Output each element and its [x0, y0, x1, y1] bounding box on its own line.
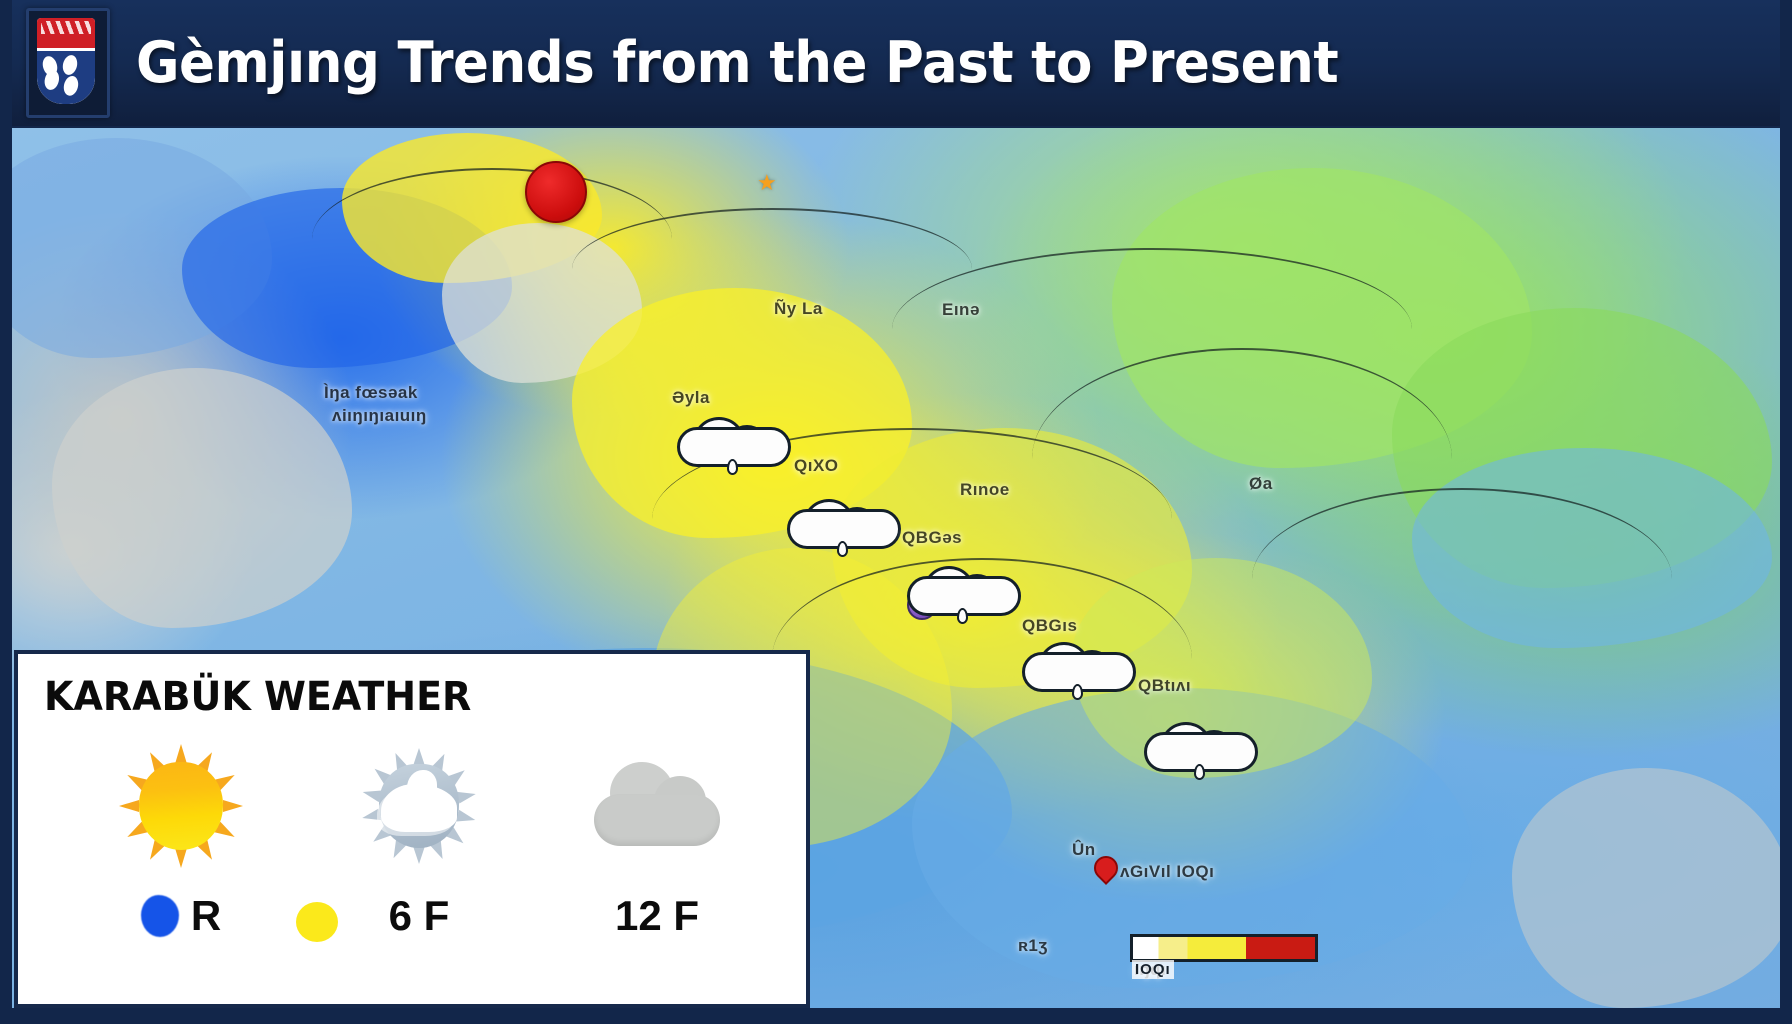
frame-edge-left — [0, 0, 12, 1024]
map-cloud-icon — [1144, 716, 1252, 778]
map-border-stroke — [652, 428, 1172, 610]
map-border-stroke — [892, 248, 1412, 410]
frame-edge-right — [1780, 0, 1792, 1024]
map-texture-blob — [1412, 448, 1772, 648]
map-label: QıXO — [794, 456, 839, 476]
map-cloud-icon — [677, 411, 785, 473]
map-border-stroke — [1032, 348, 1452, 570]
legend-title: KARABÜK WEATHER — [44, 674, 743, 720]
legend-item-2-value: 12 F — [615, 892, 699, 940]
shield-emblem-icon — [26, 8, 110, 118]
legend-item-2-value-cell: 12 F — [538, 892, 776, 940]
map-label: ʌiıŋıŋıaıuıŋ — [332, 406, 427, 426]
map-texture-blob — [182, 188, 512, 368]
frame-edge-bottom — [0, 1008, 1792, 1024]
map-label: ʀ1ʒ — [1018, 936, 1048, 956]
map-texture-blob — [442, 223, 642, 383]
shield-blue-body — [37, 51, 95, 104]
legend-item-0-value: R — [191, 892, 221, 940]
map-texture-blob — [1112, 168, 1532, 468]
map-border-stroke — [572, 208, 972, 330]
map-texture-blob — [12, 138, 272, 358]
map-label: Rınoe — [960, 480, 1010, 500]
legend-item-0-icon-cell — [62, 742, 300, 870]
map-label: Ìŋa fœsəak — [324, 383, 418, 403]
legend-value-row: R 6 F 12 F — [44, 892, 780, 940]
map-texture-blob — [1512, 768, 1780, 1008]
map-label: Əyla — [672, 388, 710, 408]
map-texture-blob — [832, 428, 1192, 688]
map-label: Ûn — [1072, 840, 1096, 860]
legend-item-1-value: 6 F — [389, 892, 450, 940]
legend-item-1-icon-cell — [300, 742, 538, 870]
sun-icon — [121, 746, 241, 866]
shield-shape — [37, 18, 95, 104]
karabuk-weather-legend-panel: KARABÜK WEATHER — [14, 650, 810, 1008]
map-label: Øa — [1249, 474, 1273, 494]
map-border-stroke — [312, 168, 672, 310]
page-title: Gèmjıng Trends from the Past to Present — [136, 30, 1338, 96]
red-location-dot-icon[interactable] — [525, 161, 587, 223]
cloud-icon — [592, 758, 722, 854]
header-bar: Gèmjıng Trends from the Past to Present — [0, 0, 1792, 126]
legend-item-0-value-cell: R — [62, 892, 300, 940]
map-label: Eınə — [942, 300, 980, 320]
map-cloud-icon — [1022, 636, 1130, 698]
map-label: QBGəs — [902, 528, 962, 548]
map-border-stroke — [772, 558, 1192, 760]
star-icon: ★ — [757, 170, 777, 196]
map-label: QBtıʌı — [1138, 676, 1191, 696]
map-label: ʌGıVıl IOQı — [1120, 862, 1214, 882]
map-texture-blob — [52, 368, 352, 628]
legend-icon-row — [44, 742, 780, 870]
legend-item-1-value-cell: 6 F — [300, 892, 538, 940]
shield-red-band — [37, 18, 95, 48]
legend-item-2-icon-cell — [538, 742, 776, 870]
partly-cloudy-icon — [359, 746, 479, 866]
purple-location-dot-icon[interactable] — [907, 590, 937, 620]
map-texture-blob — [1392, 308, 1772, 588]
screenshot-root: Gèmjıng Trends from the Past to Present — [0, 0, 1792, 1024]
snow-dot-icon — [141, 895, 179, 937]
map-texture-blob — [1072, 558, 1372, 778]
map-cloud-icon — [787, 493, 895, 555]
map-label: QBGıs — [1022, 616, 1077, 636]
temperature-color-scale-caption: IOQı — [1132, 960, 1174, 979]
map-texture-blob — [572, 288, 912, 538]
map-label: Ñy La — [774, 299, 823, 319]
temperature-color-scale — [1130, 934, 1318, 962]
map-border-stroke — [1252, 488, 1672, 670]
